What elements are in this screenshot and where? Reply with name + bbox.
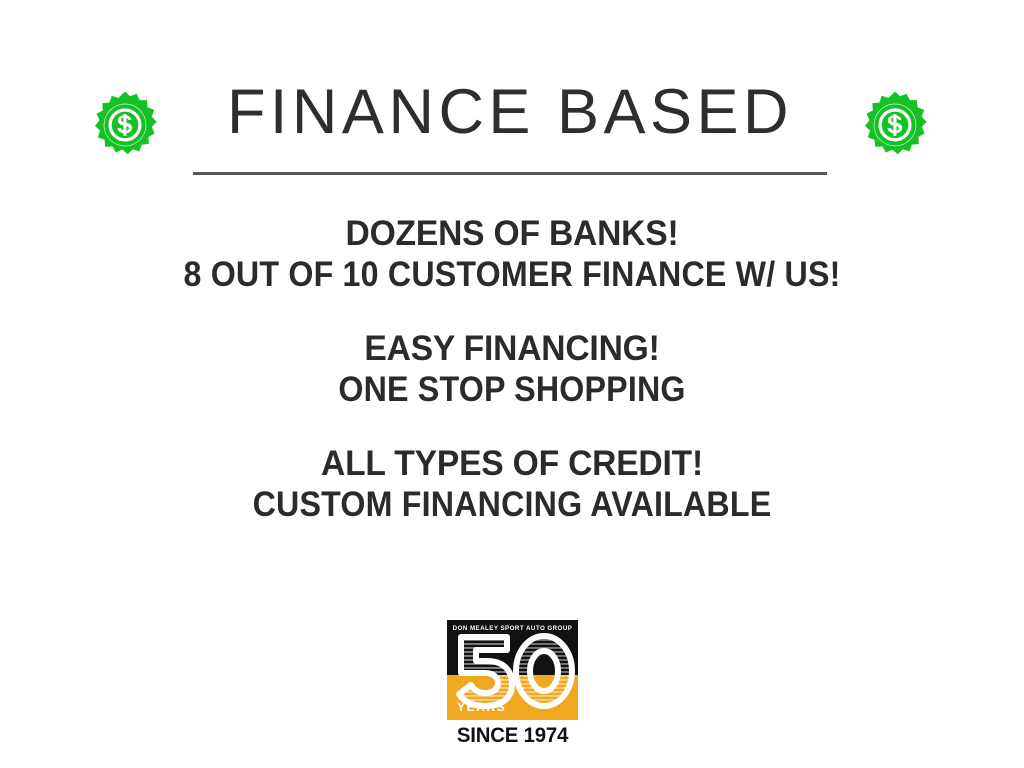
benefit-headline: ALL TYPES OF CREDIT! xyxy=(20,444,1003,485)
page-title: FINANCE BASED xyxy=(227,81,793,146)
benefit-subline: 8 OUT OF 10 CUSTOMER FINANCE W/ US! xyxy=(41,255,983,296)
benefit-subline: CUSTOM FINANCING AVAILABLE xyxy=(41,485,983,526)
dollar-gear-icon-left xyxy=(86,89,164,167)
benefit-headline: EASY FINANCING! xyxy=(20,329,1003,370)
header-divider xyxy=(193,172,827,175)
logo-brand-name: DON MEALEY SPORT AUTO GROUP xyxy=(447,625,578,632)
dollar-gear-icon-right xyxy=(856,89,934,167)
benefit-block-financing: EASY FINANCING! ONE STOP SHOPPING xyxy=(0,329,1024,410)
logo-badge: DON MEALEY SPORT AUTO GROUP xyxy=(447,620,578,720)
benefit-block-banks: DOZENS OF BANKS! 8 OUT OF 10 CUSTOMER FI… xyxy=(0,214,1024,295)
logo-fifty-numeral xyxy=(447,631,578,709)
slide-canvas: FINANCE BASED DOZENS OF BANKS! xyxy=(0,0,1024,768)
benefits-copy: DOZENS OF BANKS! 8 OUT OF 10 CUSTOMER FI… xyxy=(0,214,1024,526)
header-title-group: FINANCE BASED xyxy=(192,81,828,175)
benefit-block-credit: ALL TYPES OF CREDIT! CUSTOM FINANCING AV… xyxy=(0,444,1024,525)
benefit-headline: DOZENS OF BANKS! xyxy=(20,214,1003,255)
logo-since-text: SINCE 1974 xyxy=(449,724,576,748)
slide-header: FINANCE BASED xyxy=(0,78,1024,178)
logo-years-label: YEARS xyxy=(457,700,506,714)
dealer-logo: DON MEALEY SPORT AUTO GROUP xyxy=(447,620,578,748)
benefit-subline: ONE STOP SHOPPING xyxy=(41,370,983,411)
